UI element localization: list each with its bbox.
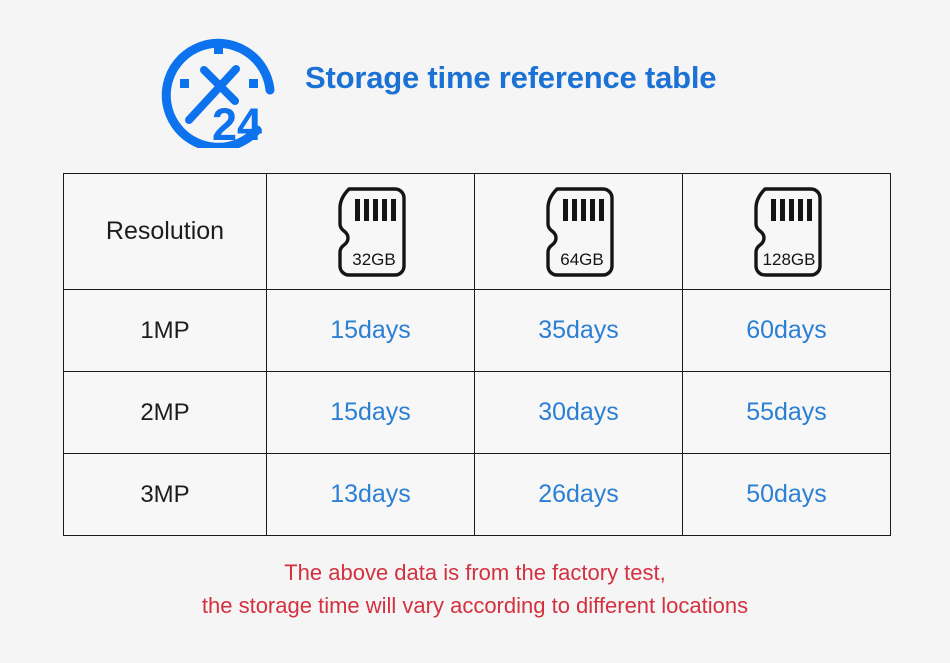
cell-32gb: 15days bbox=[267, 290, 475, 372]
cell-64gb: 26days bbox=[475, 454, 683, 536]
sd-card-icon: 32GB bbox=[267, 186, 474, 278]
cell-64gb: 35days bbox=[475, 290, 683, 372]
table-row: 3MP 13days 26days 50days bbox=[64, 454, 891, 536]
table-header-row: Resolution 32GB bbox=[64, 174, 891, 290]
resolution-value: 1MP bbox=[140, 317, 189, 344]
footnote: The above data is from the factory test,… bbox=[0, 556, 950, 622]
sd-capacity-label-64gb: 64GB bbox=[560, 250, 603, 269]
storage-days-value: 60days bbox=[746, 316, 827, 344]
clock-24h-icon: 24 bbox=[152, 18, 292, 148]
page-title: Storage time reference table bbox=[305, 60, 716, 96]
sd-capacity-label-128gb: 128GB bbox=[762, 250, 815, 269]
header-cell-32gb: 32GB bbox=[267, 174, 475, 290]
footnote-line-1: The above data is from the factory test, bbox=[0, 556, 950, 589]
cell-128gb: 60days bbox=[683, 290, 891, 372]
cell-32gb: 13days bbox=[267, 454, 475, 536]
storage-days-value: 50days bbox=[746, 480, 827, 508]
sd-capacity-label-32gb: 32GB bbox=[352, 250, 395, 269]
resolution-value: 2MP bbox=[140, 399, 189, 426]
page-header: 24 Storage time reference table bbox=[0, 0, 950, 160]
sd-card-icon: 64GB bbox=[475, 186, 682, 278]
header-cell-resolution: Resolution bbox=[64, 174, 267, 290]
cell-128gb: 55days bbox=[683, 372, 891, 454]
storage-days-value: 15days bbox=[330, 316, 411, 344]
storage-time-table: Resolution 32GB bbox=[63, 173, 891, 536]
storage-days-value: 13days bbox=[330, 480, 411, 508]
footnote-line-2: the storage time will vary according to … bbox=[0, 589, 950, 622]
badge-number: 24 bbox=[212, 99, 262, 148]
storage-days-value: 35days bbox=[538, 316, 619, 344]
storage-days-value: 26days bbox=[538, 480, 619, 508]
header-cell-128gb: 128GB bbox=[683, 174, 891, 290]
table-row: 2MP 15days 30days 55days bbox=[64, 372, 891, 454]
cell-resolution: 3MP bbox=[64, 454, 267, 536]
cell-32gb: 15days bbox=[267, 372, 475, 454]
table-row: 1MP 15days 35days 60days bbox=[64, 290, 891, 372]
cell-128gb: 50days bbox=[683, 454, 891, 536]
cell-64gb: 30days bbox=[475, 372, 683, 454]
cell-resolution: 2MP bbox=[64, 372, 267, 454]
storage-days-value: 55days bbox=[746, 398, 827, 426]
storage-days-value: 15days bbox=[330, 398, 411, 426]
cell-resolution: 1MP bbox=[64, 290, 267, 372]
resolution-value: 3MP bbox=[140, 481, 189, 508]
header-cell-64gb: 64GB bbox=[475, 174, 683, 290]
resolution-header-label: Resolution bbox=[106, 217, 224, 245]
sd-card-icon: 128GB bbox=[683, 186, 890, 278]
storage-days-value: 30days bbox=[538, 398, 619, 426]
